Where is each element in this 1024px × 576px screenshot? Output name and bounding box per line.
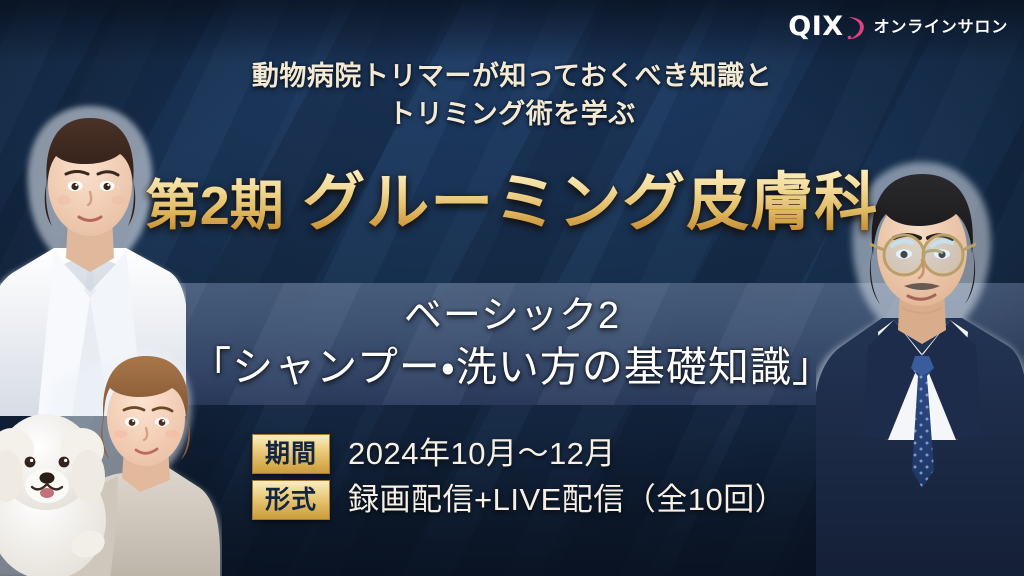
title-main: グルーミング皮膚科 <box>302 168 878 238</box>
info-row-period: 期間 2024年10月〜12月 <box>252 434 772 474</box>
lead-copy: 動物病院トリマーが知っておくべき知識と トリミング術を学ぶ <box>0 57 1024 134</box>
info-value-period: 2024年10月〜12月 <box>348 437 616 471</box>
series-subtitle: ベーシック2 「シャンプー・洗い方の基礎知識」 <box>0 292 1024 393</box>
logo-brand-label: QIX <box>788 13 843 40</box>
logo-brand-text: QIX <box>788 13 866 40</box>
qix-logo[interactable]: QIX オンラインサロン <box>788 13 1008 40</box>
info-value-format: 録画配信+LIVE配信（全10回） <box>348 483 786 517</box>
info-list: 期間 2024年10月〜12月 形式 録画配信+LIVE配信（全10回） <box>0 434 1024 520</box>
promo-banner: QIX オンラインサロン 動物病院トリマーが知っておくべき知識と トリミング術を… <box>0 0 1024 576</box>
info-row-format: 形式 録画配信+LIVE配信（全10回） <box>252 480 772 520</box>
logo-sub-label: オンラインサロン <box>874 19 1008 35</box>
qix-swoosh-icon <box>845 14 867 40</box>
series-line-2: 「シャンプー・洗い方の基礎知識」 <box>0 341 1024 393</box>
lead-line-2: トリミング術を学ぶ <box>0 95 1024 133</box>
lead-line-1: 動物病院トリマーが知っておくべき知識と <box>252 61 772 91</box>
title-spacer <box>284 168 303 238</box>
page-title: 第2期 グルーミング皮膚科 <box>0 167 1024 239</box>
badge-format: 形式 <box>252 480 330 520</box>
badge-period: 期間 <box>252 434 330 474</box>
banner-content: 動物病院トリマーが知っておくべき知識と トリミング術を学ぶ 第2期 グルーミング… <box>0 0 1024 576</box>
title-prefix: 第2期 <box>146 176 284 236</box>
series-line-1: ベーシック2 <box>404 295 620 337</box>
